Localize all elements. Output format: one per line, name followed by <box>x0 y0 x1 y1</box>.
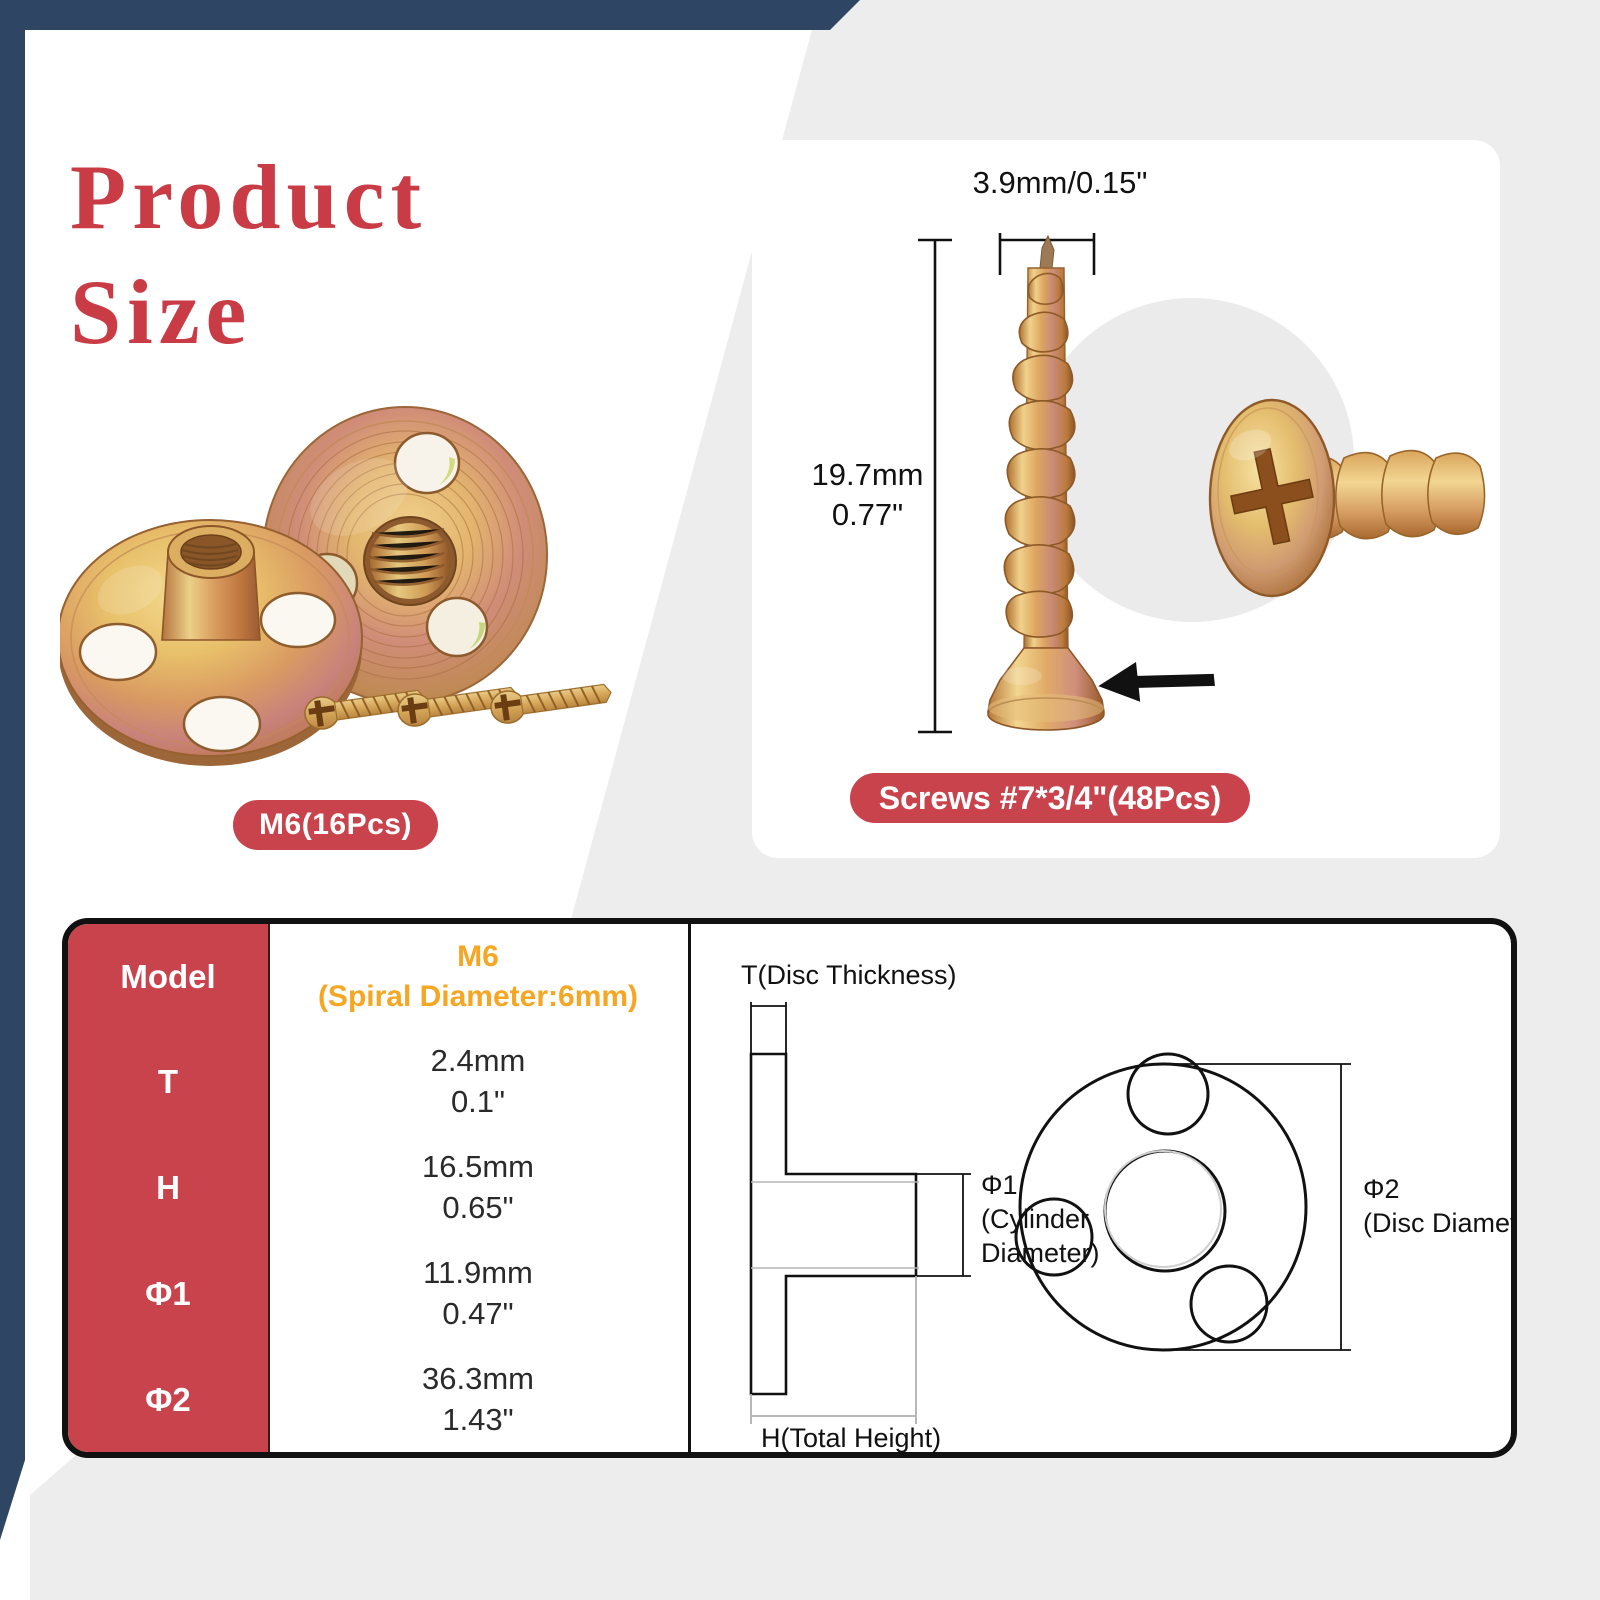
table-row-key: Φ1 <box>68 1241 268 1347</box>
table-row-key: Φ2 <box>68 1347 268 1452</box>
table-row-value: 16.5mm 0.65" <box>268 1135 688 1241</box>
table-header-model-line2: (Spiral Diameter:6mm) <box>318 977 638 1017</box>
table-row-value-mm: 16.5mm <box>422 1147 534 1188</box>
length-dimension-bracket <box>918 240 952 732</box>
label-t-disc-thickness: T(Disc Thickness) <box>741 960 957 990</box>
table-header-model-line1: M6 <box>457 937 499 977</box>
label-phi2-line1: Φ2 <box>1363 1174 1400 1204</box>
badge-tnut-count: M6(16Pcs) <box>233 800 438 850</box>
table-row-value-inch: 0.47" <box>442 1294 513 1335</box>
background-navy-top-bar <box>0 0 860 30</box>
table-row-value-inch: 0.1" <box>451 1082 505 1123</box>
disc-top-view <box>1016 1054 1306 1350</box>
spec-table: Model M6 (Spiral Diameter:6mm) T 2.4mm 0… <box>68 924 688 1452</box>
badge-screws-count: Screws #7*3/4"(48Pcs) <box>850 773 1250 823</box>
table-row: H 16.5mm 0.65" <box>68 1135 688 1241</box>
table-row-value-mm: 36.3mm <box>422 1359 534 1400</box>
page-title-line2: Size <box>70 255 710 370</box>
infographic-canvas: Product Size <box>0 0 1600 1600</box>
table-header-model-label: Model <box>68 924 268 1029</box>
table-row-value: 36.3mm 1.43" <box>268 1347 688 1452</box>
table-row: T 2.4mm 0.1" <box>68 1029 688 1135</box>
table-row-value-inch: 0.65" <box>442 1188 513 1229</box>
label-phi1-line2: (Cylinder <box>981 1204 1089 1234</box>
table-header-model-value: M6 (Spiral Diameter:6mm) <box>268 924 688 1029</box>
page-title: Product Size <box>70 140 710 370</box>
tnut-product-photo <box>60 395 640 785</box>
table-header-row: Model M6 (Spiral Diameter:6mm) <box>68 924 688 1029</box>
callout-arrow <box>1096 654 1216 706</box>
table-row-key: T <box>68 1029 268 1135</box>
label-phi1-line3: Diameter) <box>981 1238 1100 1268</box>
t-dimension-bracket <box>751 1002 786 1054</box>
table-row: Φ2 36.3mm 1.43" <box>68 1347 688 1452</box>
label-h-total-height: H(Total Height) <box>761 1423 941 1452</box>
table-row: Φ1 11.9mm 0.47" <box>68 1241 688 1347</box>
table-row-value-mm: 2.4mm <box>431 1041 526 1082</box>
screws-illustration <box>752 140 1500 858</box>
h-dimension-bracket <box>751 1276 916 1424</box>
spec-table-panel: Model M6 (Spiral Diameter:6mm) T 2.4mm 0… <box>62 918 1517 1458</box>
label-phi2-line2: (Disc Diameter) <box>1363 1208 1517 1238</box>
table-column-divider <box>268 924 270 1452</box>
background-navy-left-bar <box>0 0 25 1600</box>
page-title-line1: Product <box>70 146 427 248</box>
table-row-value: 11.9mm 0.47" <box>268 1241 688 1347</box>
table-row-value: 2.4mm 0.1" <box>268 1029 688 1135</box>
table-row-value-inch: 1.43" <box>442 1400 513 1441</box>
technical-drawing: T(Disc Thickness) H(Total Height) Φ1 (Cy… <box>691 924 1517 1452</box>
phi1-dimension-bracket <box>916 1174 971 1276</box>
table-row-key: H <box>68 1135 268 1241</box>
label-phi1-line1: Φ1 <box>981 1170 1018 1200</box>
table-row-value-mm: 11.9mm <box>423 1253 533 1294</box>
